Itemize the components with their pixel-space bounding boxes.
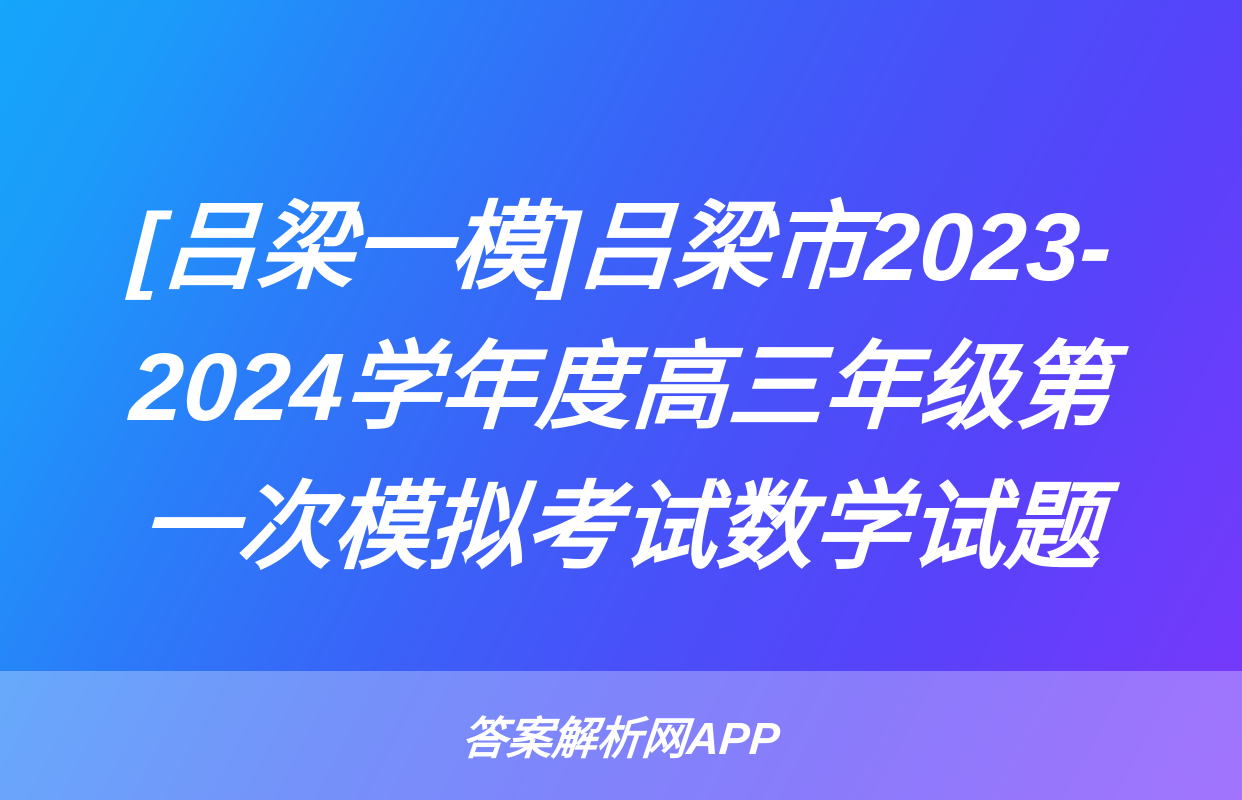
app-watermark-label: 答案解析网APP: [460, 712, 782, 766]
app-watermark: 答案解析网APP: [0, 712, 1242, 766]
title-line-3: 一次模拟考试数学试题: [66, 458, 1175, 598]
exam-title-poster: [吕梁一模]吕梁市2023- 2024学年度高三年级第 一次模拟考试数学试题 答…: [0, 0, 1242, 800]
page-title: [吕梁一模]吕梁市2023- 2024学年度高三年级第 一次模拟考试数学试题: [0, 178, 1242, 598]
title-line-1: [吕梁一模]吕梁市2023-: [66, 178, 1175, 318]
title-line-2: 2024学年度高三年级第: [66, 318, 1175, 458]
